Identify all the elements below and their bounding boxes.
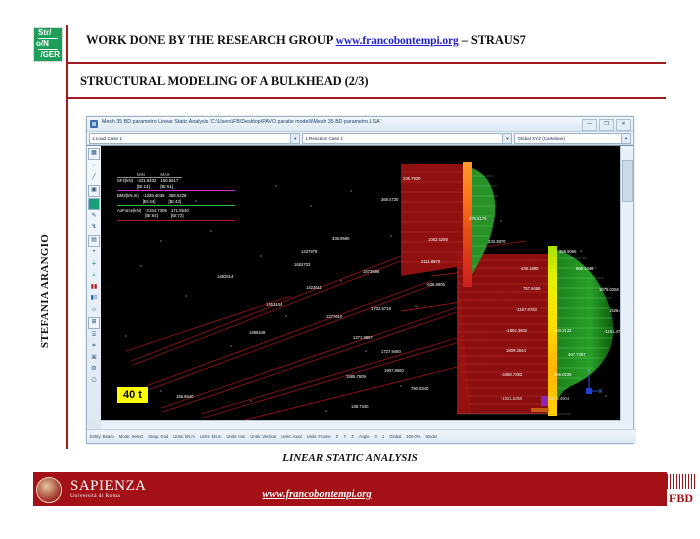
frame-icon[interactable]: ▤ xyxy=(88,235,100,247)
author-vertical-label: STEFANIA ARANGIO xyxy=(39,211,51,371)
legend-rule-axforce xyxy=(117,220,235,221)
value-label: -626.8906 xyxy=(426,282,445,287)
scrollbar-thumb[interactable] xyxy=(622,160,633,202)
grid-icon[interactable]: ▦ xyxy=(88,148,100,160)
legend-minnode-sf2: [Br:14] xyxy=(137,184,160,189)
legend-maxnode-bm2: [Br:43] xyxy=(168,199,190,204)
value-label: -1021.5355 xyxy=(501,396,522,401)
value-label: 2111.8970 xyxy=(421,259,440,264)
legend-row: SF2(kN) -321.9402 160.5617 xyxy=(117,178,182,184)
maximize-button[interactable]: ❐ xyxy=(599,119,614,131)
value-label: 359.9056 xyxy=(559,249,576,254)
header-title: WORK DONE BY THE RESEARCH GROUP www.fran… xyxy=(86,33,646,48)
value-label: 1702.5718 xyxy=(371,306,391,311)
value-label: 790.8340 xyxy=(411,386,428,391)
value-label: 1675.0256 xyxy=(599,287,619,292)
application-icon xyxy=(90,120,98,128)
value-label: 1377610 xyxy=(326,314,342,319)
chevron-down-icon[interactable]: ▼ xyxy=(502,134,511,143)
coordinate-system-value: Global XYZ (Cartesian) xyxy=(517,136,565,141)
pen-icon[interactable]: ✎ xyxy=(89,212,99,222)
load-case-combo[interactable]: 1:Load Case 1 ▼ xyxy=(89,133,300,144)
status-item: Mode: Select xyxy=(119,434,143,439)
chevron-down-icon[interactable]: ▼ xyxy=(290,134,299,143)
status-item: Units: Axial xyxy=(281,434,302,439)
title-underline-rule xyxy=(66,97,666,99)
logo-divider-1 xyxy=(38,38,58,39)
diagram-icon[interactable]: ⌗ xyxy=(89,342,99,352)
value-label: -2514.4904 xyxy=(548,396,569,401)
legend-label-axforce: AxForce(kN) xyxy=(117,208,145,213)
legend-row: BM2(kN.m) -1326.4036 358.5228 xyxy=(117,193,190,198)
footer-url-link[interactable]: www.francobontempi.org xyxy=(262,489,371,500)
value-label: 1809.2644 xyxy=(506,348,526,353)
legend-row-node: [Br:44] [Br:43] xyxy=(117,199,190,204)
value-label: -1167.6763 xyxy=(516,307,537,312)
value-label: 478.8179 xyxy=(469,216,486,221)
legend-minnode-bm2: [Br:44] xyxy=(143,199,169,204)
axis-triad-icon xyxy=(575,369,605,399)
body-vertical-rule xyxy=(66,64,68,449)
workarea: ▦ ◦ ╱ ▣ ✎ ↯ ▤ • ⏚ ⇣ ▮▮ ▮≡ ⊹ ⊞ ⌸ ⌗ ⌘ ⚙ ⎔ xyxy=(87,145,633,443)
status-item: Units: Vertical xyxy=(250,434,276,439)
value-label: 1907.8660 xyxy=(384,368,404,373)
reaction-case-value: 1:Reaction Case 1 xyxy=(305,136,343,141)
load-case-value: 1:Load Case 1 xyxy=(92,136,122,141)
value-label: 757.6455 xyxy=(523,286,540,291)
value-label: 236.7930 xyxy=(403,176,420,181)
legend-label-bm2: BM2(kN.m) xyxy=(117,193,143,198)
status-item: Angle xyxy=(359,434,370,439)
legend-row-node: [Br:14] [Br:51] xyxy=(117,184,182,189)
snap-icon[interactable]: ⎔ xyxy=(89,377,99,387)
header-title-prefix: WORK DONE BY THE RESEARCH GROUP xyxy=(86,33,333,47)
status-item: 1 xyxy=(382,434,384,439)
status-item: 0 xyxy=(375,434,377,439)
header-vertical-rule xyxy=(66,25,68,63)
value-label: 1453144 xyxy=(266,302,282,307)
status-item: Model xyxy=(426,434,437,439)
model-canvas[interactable]: MIN MAX SF2(kN) -321.9402 160.5617 [Br:1… xyxy=(101,146,621,429)
point-icon[interactable]: • xyxy=(89,248,99,258)
value-label: 233.3870 xyxy=(488,239,505,244)
value-label: 138.7340 xyxy=(351,404,368,409)
value-label: 1585.7609 xyxy=(346,374,366,379)
value-label: 666.1446 xyxy=(576,266,593,271)
status-item: Units: Frame xyxy=(307,434,331,439)
legend-maxnode-axforce: [Br:72] xyxy=(171,213,193,218)
coordinate-system-combo[interactable]: Global XYZ (Cartesian) ▼ xyxy=(514,133,631,144)
legend-minnode-axforce: [Br:64] xyxy=(145,213,171,218)
value-label: -1802.3832 xyxy=(506,328,527,333)
value-label: 1495449 xyxy=(249,330,265,335)
restraint-icon[interactable]: ⏚ xyxy=(89,260,99,270)
status-item: Snap: Grid xyxy=(148,434,168,439)
legend-maxnode-sf2: [Br:51] xyxy=(160,184,182,189)
status-bar: Entity: BeamMode: SelectSnap: GridUnits:… xyxy=(87,429,636,443)
minimize-button[interactable]: — xyxy=(582,119,597,131)
status-item: Units: kN.m xyxy=(200,434,222,439)
status-item: Units: mm xyxy=(227,434,246,439)
value-label: 183.2132 xyxy=(554,328,571,333)
value-label: 1423611 xyxy=(306,285,322,290)
header-title-suffix: – STRAUS7 xyxy=(462,33,526,47)
header-title-link[interactable]: www.francobontempi.org xyxy=(336,35,459,47)
value-label: 1482514 xyxy=(217,274,233,279)
contour-bar-left xyxy=(463,162,472,287)
zoom-icon[interactable]: ◦ xyxy=(89,162,99,172)
strong-er-logo: Str/ o/N /GER xyxy=(33,27,63,62)
annotate-icon[interactable]: ⌘ xyxy=(89,354,99,364)
status-item: Entity: Beam xyxy=(90,434,114,439)
line-draw-icon[interactable]: ╱ xyxy=(89,173,99,183)
value-label: -1161.4712 xyxy=(604,329,621,334)
fbd-logo-hatch xyxy=(667,474,695,489)
slide-caption: LINEAR STATIC ANALYSIS xyxy=(0,452,700,464)
load-icon[interactable]: ⇣ xyxy=(89,271,99,281)
window-icon[interactable]: ▣ xyxy=(88,185,100,197)
window-titlebar: Mesh 35 BD parametro Linear Static Analy… xyxy=(87,117,633,132)
value-label: 1652703 xyxy=(294,262,310,267)
value-label: 467.7387 xyxy=(568,352,585,357)
freebody-icon[interactable]: ⌸ xyxy=(89,331,99,341)
status-item: Z xyxy=(351,434,354,439)
settings-icon[interactable]: ⚙ xyxy=(89,365,99,375)
left-toolbar: ▦ ◦ ╱ ▣ ✎ ↯ ▤ • ⏚ ⇣ ▮▮ ▮≡ ⊹ ⊞ ⌸ ⌗ ⌘ ⚙ ⎔ xyxy=(87,146,102,431)
close-button[interactable]: ✕ xyxy=(616,119,631,131)
logo-line-3: /GER xyxy=(34,50,62,61)
value-label: 1573598 xyxy=(363,269,379,274)
value-label: -3458.7283 xyxy=(501,372,522,377)
axis-triad: Y Z X xyxy=(575,369,605,399)
value-label: 436.1890 xyxy=(521,266,538,271)
value-label: 1437979 xyxy=(301,249,317,254)
footer-url-wrap: www.francobontempi.org xyxy=(0,484,634,502)
status-item: 100.0% xyxy=(406,434,420,439)
reaction-case-combo[interactable]: 1:Reaction Case 1 ▼ xyxy=(302,133,512,144)
header-horizontal-rule xyxy=(66,62,666,64)
value-label: 1083.5288 xyxy=(428,237,448,242)
vertical-scrollbar[interactable] xyxy=(620,146,633,429)
minmax-legend: MIN MAX SF2(kN) -321.9402 160.5617 [Br:1… xyxy=(117,172,235,223)
fbd-logo-text: FBD xyxy=(669,493,693,504)
beam-result-icon[interactable]: ▮▮ xyxy=(89,283,99,293)
legend-rule-sf2 xyxy=(117,190,235,191)
value-label: 1371.9857 xyxy=(353,335,373,340)
case-selector-toolbar: 1:Load Case 1 ▼ 1:Reaction Case 1 ▼ Glob… xyxy=(87,132,633,145)
status-item: X xyxy=(336,434,339,439)
value-label: 356.0238 xyxy=(554,372,571,377)
node-select-icon[interactable]: ↯ xyxy=(89,223,99,233)
logo-divider-2 xyxy=(38,49,58,50)
solid-fill-icon[interactable] xyxy=(88,198,100,210)
status-item: Units: kN,m xyxy=(173,434,195,439)
table-icon[interactable]: ⊞ xyxy=(88,317,100,329)
slide-root: Str/ o/N /GER WORK DONE BY THE RESEARCH … xyxy=(0,0,700,539)
value-label: 159.6540 xyxy=(176,394,193,399)
value-label: 336.9590 xyxy=(332,236,349,241)
window-buttons: — ❐ ✕ xyxy=(582,119,631,131)
axis-icon[interactable]: ⊹ xyxy=(89,306,99,316)
page-title: STRUCTURAL MODELING OF A BULKHEAD (2/3) xyxy=(80,74,368,89)
contour-icon[interactable]: ▮≡ xyxy=(89,294,99,304)
status-item: Global xyxy=(389,434,401,439)
status-item: Y xyxy=(343,434,346,439)
load-annotation-badge: 40 t xyxy=(116,386,149,404)
window-title: Mesh 35 BD parametro Linear Static Analy… xyxy=(102,119,381,125)
value-label: 1727.9480 xyxy=(381,349,401,354)
straus7-window: Mesh 35 BD parametro Linear Static Analy… xyxy=(86,116,634,444)
legend-row-node: [Br:64] [Br:72] xyxy=(117,213,193,218)
value-label: 368.4730 xyxy=(381,197,398,202)
legend-rule-bm2 xyxy=(117,205,235,206)
chevron-down-icon[interactable]: ▼ xyxy=(621,134,630,143)
